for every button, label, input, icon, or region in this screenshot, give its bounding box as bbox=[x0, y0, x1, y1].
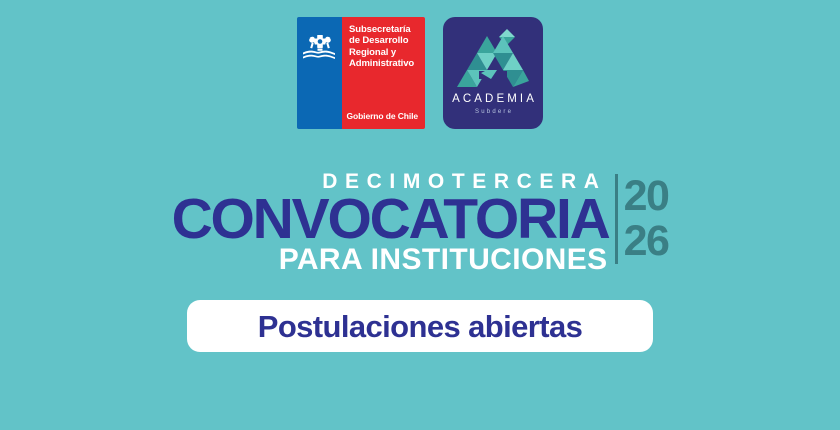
chile-flag-red-panel: Subsecretaríade DesarrolloRegional yAdmi… bbox=[342, 17, 425, 129]
chile-flag-blue-panel bbox=[297, 17, 342, 129]
cta-wrapper: Postulaciones abiertas bbox=[0, 300, 840, 352]
headline-block: DECIMOTERCERA CONVOCATORIA PARA INSTITUC… bbox=[0, 170, 840, 277]
year-divider bbox=[615, 174, 618, 264]
postulaciones-abiertas-button[interactable]: Postulaciones abiertas bbox=[187, 300, 653, 352]
subdere-logo: Subsecretaríade DesarrolloRegional yAdmi… bbox=[297, 17, 425, 129]
year-top: 20 bbox=[624, 174, 669, 219]
academia-subtitle: Subdere bbox=[443, 109, 543, 115]
headline-main: CONVOCATORIA bbox=[172, 193, 609, 245]
triangular-a-monogram-icon bbox=[457, 29, 529, 87]
gobierno-de-chile-label: Gobierno de Chile bbox=[346, 111, 418, 121]
subdere-logo-title: Subsecretaríade DesarrolloRegional yAdmi… bbox=[349, 24, 419, 70]
campaign-banner: Subsecretaríade DesarrolloRegional yAdmi… bbox=[0, 0, 840, 430]
headline-subline: PARA INSTITUCIONES bbox=[279, 243, 609, 277]
year-digits: 20 26 bbox=[624, 174, 669, 264]
academia-wordmark: ACADEMIA bbox=[443, 93, 543, 105]
chile-coat-of-arms-icon bbox=[303, 31, 337, 61]
logo-strip: Subsecretaríade DesarrolloRegional yAdmi… bbox=[0, 17, 840, 129]
academia-logo: ACADEMIA Subdere bbox=[443, 17, 543, 129]
headline-text-group: DECIMOTERCERA CONVOCATORIA PARA INSTITUC… bbox=[172, 170, 609, 277]
year-bottom: 26 bbox=[624, 219, 669, 264]
year-block: 20 26 bbox=[615, 170, 669, 264]
